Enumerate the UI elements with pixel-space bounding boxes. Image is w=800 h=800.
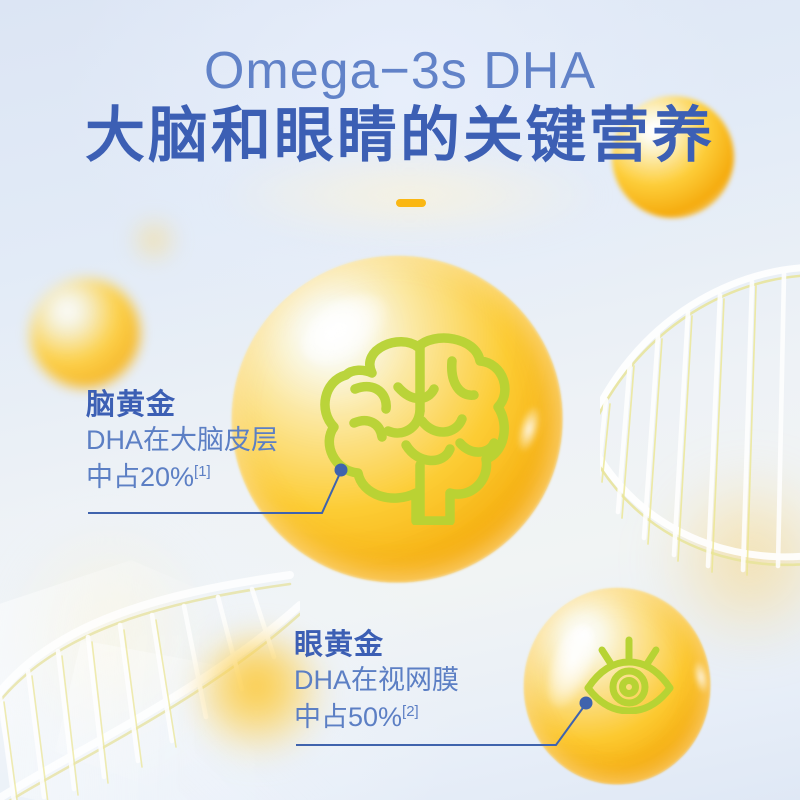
page-title-english: Omega−3s DHA [0,44,800,98]
eye-icon [582,636,676,719]
headline-block: Omega−3s DHA 大脑和眼睛的关键营养 [0,0,800,168]
poster-canvas: Omega−3s DHA 大脑和眼睛的关键营养 脑黄金 DHA在大脑皮层 中占2… [0,0,800,800]
callout-eye-reference: [2] [402,703,419,720]
callout-eye-line1: DHA在视网膜 [294,662,459,699]
callout-eye-line2: 中占50%[2] [294,699,459,736]
oil-bubble-small-left [30,278,140,388]
callout-eye-prefix: 中占 [294,702,348,732]
page-title-chinese: 大脑和眼睛的关键营养 [0,104,800,168]
divider-dash [396,199,426,207]
dna-helix-icon [600,250,800,580]
callout-eye-value: 50% [348,702,402,732]
brain-icon [300,325,515,530]
callout-brain-title: 脑黄金 [86,388,278,422]
callout-eye-title: 眼黄金 [294,628,459,662]
callout-brain: 脑黄金 DHA在大脑皮层 中占20%[1] [86,388,278,496]
callout-brain-value: 20% [140,462,194,492]
callout-brain-prefix: 中占 [86,462,140,492]
callout-brain-reference: [1] [194,463,211,480]
callout-brain-line2: 中占20%[1] [86,459,278,496]
callout-brain-line1: DHA在大脑皮层 [86,422,278,459]
oil-bubble-glow-topleft [126,214,182,266]
callout-eye: 眼黄金 DHA在视网膜 中占50%[2] [294,628,459,736]
